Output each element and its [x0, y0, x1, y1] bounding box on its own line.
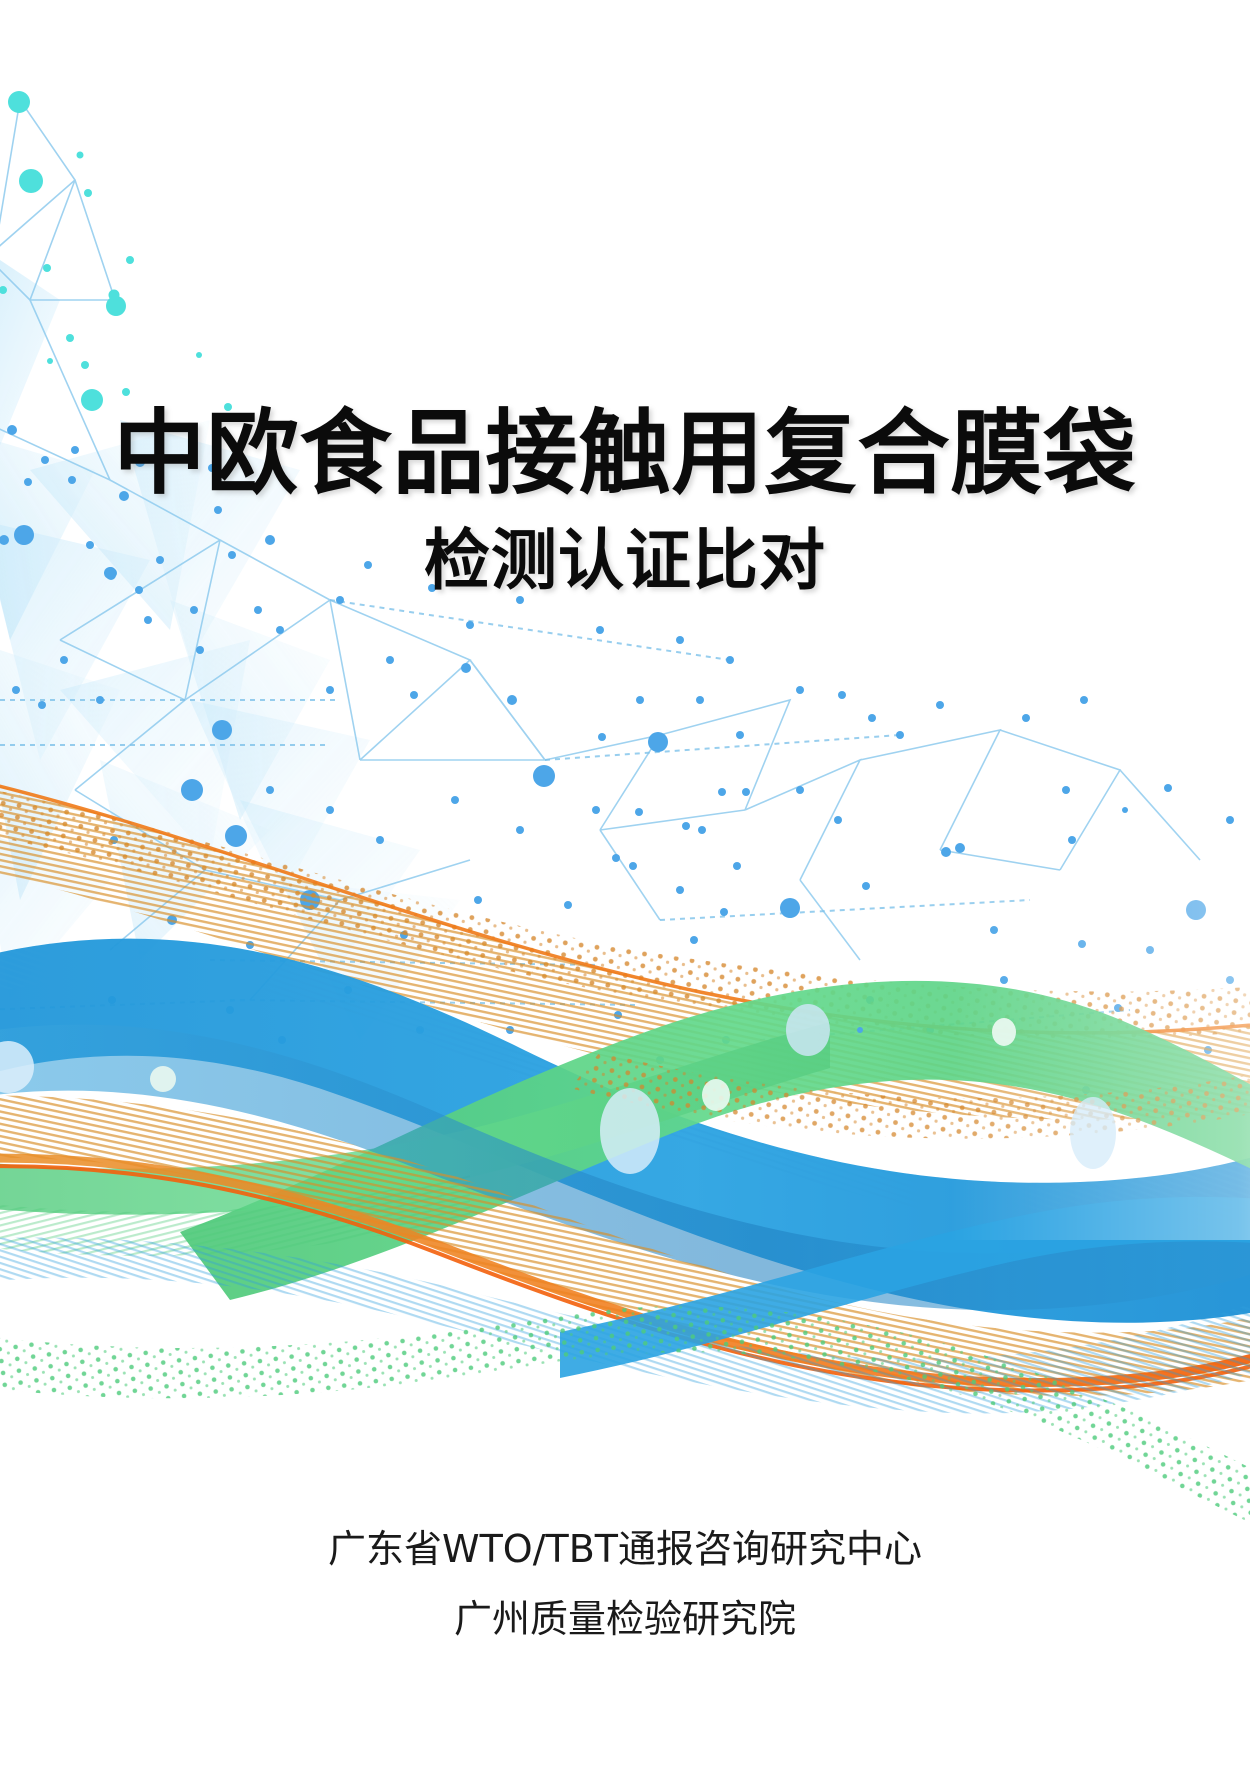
- organization-line-2: 广州质量检验研究院: [0, 1600, 1250, 1638]
- page-subtitle: 检测认证比对: [0, 528, 1250, 594]
- cover-title-block: 中欧食品接触用复合膜袋 检测认证比对: [0, 408, 1250, 594]
- document-cover-page: 中欧食品接触用复合膜袋 检测认证比对 广东省WTO/TBT通报咨询研究中心 广州…: [0, 0, 1250, 1768]
- page-title: 中欧食品接触用复合膜袋: [0, 408, 1250, 500]
- organization-line-1: 广东省WTO/TBT通报咨询研究中心: [0, 1530, 1250, 1568]
- organization-block: 广东省WTO/TBT通报咨询研究中心 广州质量检验研究院: [0, 1530, 1250, 1638]
- text-layer: 中欧食品接触用复合膜袋 检测认证比对 广东省WTO/TBT通报咨询研究中心 广州…: [0, 0, 1250, 1768]
